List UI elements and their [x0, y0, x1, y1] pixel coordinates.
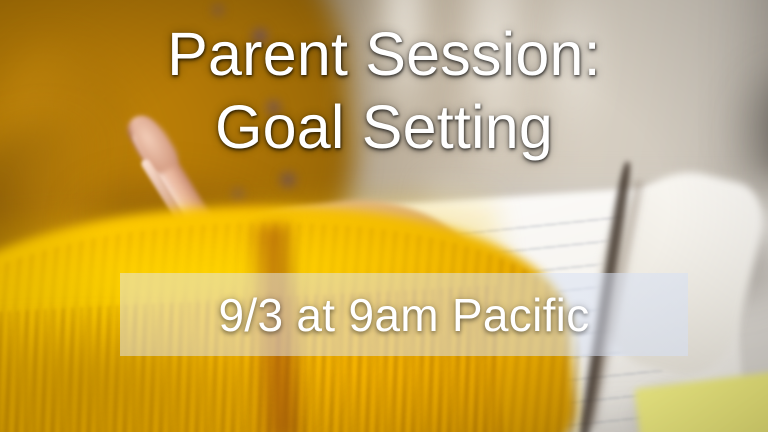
date-banner-text: 9/3 at 9am Pacific — [218, 292, 589, 338]
date-banner: 9/3 at 9am Pacific — [120, 273, 688, 356]
sweater-bokeh-dot — [280, 172, 296, 188]
presentation-slide: Parent Session: Goal Setting 9/3 at 9am … — [0, 0, 768, 432]
title-line-2: Goal Setting — [0, 97, 768, 158]
title-line-1: Parent Session: — [0, 24, 768, 85]
slide-title: Parent Session: Goal Setting — [0, 24, 768, 158]
sweater-bokeh-dot — [212, 4, 224, 16]
sweater-bokeh-dot — [232, 188, 244, 200]
